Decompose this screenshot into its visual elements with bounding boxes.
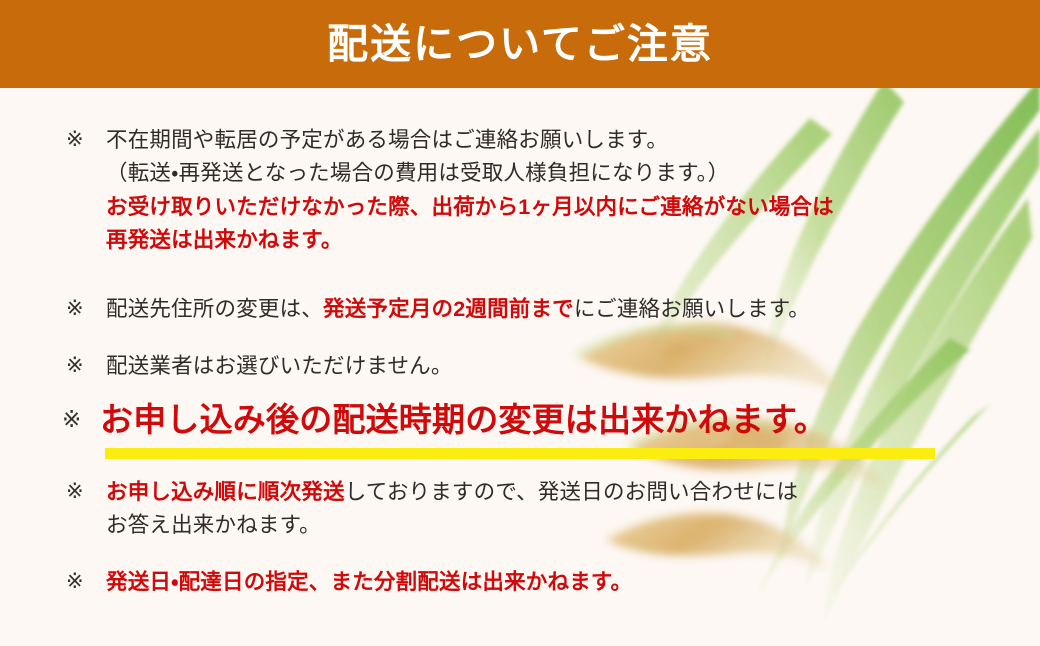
absence-line-1: 不在期間や転居の予定がある場合はご連絡お願いします。 (106, 124, 834, 157)
notice-list: ※ 不在期間や転居の予定がある場合はご連絡お願いします。 （転送・再発送となった… (0, 88, 1040, 646)
absence-line-3: お受け取りいただけなかった際、出荷から1ヶ月以内にご連絡がない場合は (106, 191, 834, 224)
order-sequence-text-emphasis: お申し込み順に順次発送 (106, 480, 345, 504)
order-sequence-text-suffix: しておりますので、発送日のお問い合わせには (345, 480, 799, 504)
order-sequence-line-2: お答え出来かねます。 (106, 509, 798, 542)
notice-item-carrier: ※ 配送業者はお選びいただけません。 (66, 350, 453, 383)
address-change-text-prefix: 配送先住所の変更は、 (106, 297, 323, 321)
notice-item-schedule-change-lines: お申し込み後の配送時期の変更は出来かねます。 (100, 400, 827, 440)
notice-item-order-sequence: ※ お申し込み順に順次発送しておりますので、発送日のお問い合わせには お答え出来… (66, 476, 798, 543)
notice-item-absence: ※ 不在期間や転居の予定がある場合はご連絡お願いします。 （転送・再発送となった… (66, 124, 834, 257)
absence-line-4: 再発送は出来かねます。 (106, 224, 834, 257)
bullet-mark-icon: ※ (66, 566, 106, 599)
bullet-mark-icon: ※ (62, 406, 100, 434)
notice-item-order-sequence-lines: お申し込み順に順次発送しておりますので、発送日のお問い合わせには お答え出来かね… (106, 476, 798, 543)
bullet-mark-icon: ※ (66, 476, 106, 509)
bullet-mark-icon: ※ (66, 350, 106, 383)
order-sequence-line-1: お申し込み順に順次発送しておりますので、発送日のお問い合わせには (106, 476, 798, 509)
carrier-line-1: 配送業者はお選びいただけません。 (106, 350, 453, 383)
notice-item-carrier-lines: 配送業者はお選びいただけません。 (106, 350, 453, 383)
no-date-spec-line-1: 発送日・配達日の指定、また分割配送は出来かねます。 (106, 566, 632, 599)
notice-header: 配送についてご注意 (0, 0, 1040, 88)
notice-item-no-date-specification-lines: 発送日・配達日の指定、また分割配送は出来かねます。 (106, 566, 632, 599)
notice-item-address-change-lines: 配送先住所の変更は、発送予定月の2週間前までにご連絡お願いします。 (106, 293, 810, 326)
notice-item-absence-lines: 不在期間や転居の予定がある場合はご連絡お願いします。 （転送・再発送となった場合… (106, 124, 834, 257)
notice-item-no-date-specification: ※ 発送日・配達日の指定、また分割配送は出来かねます。 (66, 566, 632, 599)
absence-line-2: （転送・再発送となった場合の費用は受取人様負担になります。） (106, 157, 834, 190)
shipping-notice-card: 配送についてご注意 (0, 0, 1040, 646)
address-change-text-suffix: にご連絡お願いします。 (574, 297, 810, 321)
address-change-text-emphasis: 発送予定月の2週間前まで (323, 297, 574, 321)
schedule-change-line-1: お申し込み後の配送時期の変更は出来かねます。 (100, 400, 827, 440)
bullet-mark-icon: ※ (66, 124, 106, 157)
address-change-line-1: 配送先住所の変更は、発送予定月の2週間前までにご連絡お願いします。 (106, 293, 810, 326)
notice-item-address-change: ※ 配送先住所の変更は、発送予定月の2週間前までにご連絡お願いします。 (66, 293, 810, 326)
bullet-mark-icon: ※ (66, 293, 106, 326)
notice-item-schedule-change: ※ お申し込み後の配送時期の変更は出来かねます。 (62, 400, 827, 440)
page-title: 配送についてご注意 (327, 24, 713, 65)
